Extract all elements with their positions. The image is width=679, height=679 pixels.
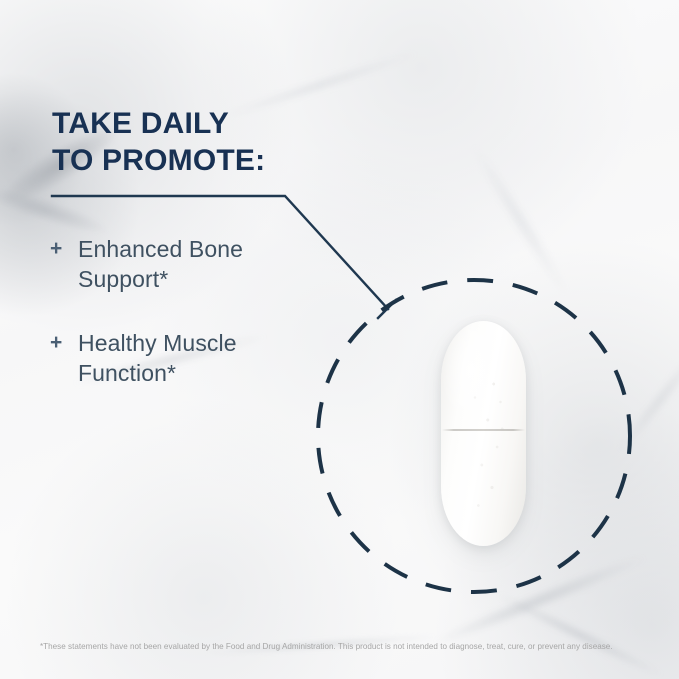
tablet-texture xyxy=(441,321,526,546)
benefit-label: Healthy MuscleFunction* xyxy=(78,328,237,388)
benefit-label-line-1: Enhanced Bone xyxy=(78,236,243,262)
headline: TAKE DAILY TO PROMOTE: xyxy=(52,105,265,179)
benefit-label: Enhanced BoneSupport* xyxy=(78,234,243,294)
tablet-score-line xyxy=(442,429,525,431)
benefit-label-line-2: Support* xyxy=(78,266,168,292)
list-item: + Enhanced BoneSupport* xyxy=(50,234,310,294)
headline-line-2: TO PROMOTE: xyxy=(52,142,265,179)
headline-line-1: TAKE DAILY xyxy=(52,105,265,142)
fda-disclaimer: *These statements have not been evaluate… xyxy=(40,641,613,653)
benefit-label-line-2: Function* xyxy=(78,360,176,386)
plus-icon: + xyxy=(50,328,78,358)
list-item: + Healthy MuscleFunction* xyxy=(50,328,310,388)
benefits-list: + Enhanced BoneSupport* + Healthy Muscle… xyxy=(50,234,310,422)
white-oval-tablet xyxy=(441,321,526,546)
plus-icon: + xyxy=(50,234,78,264)
product-benefits-graphic: TAKE DAILY TO PROMOTE: + Enhanced BoneSu… xyxy=(0,0,679,679)
benefit-label-line-1: Healthy Muscle xyxy=(78,330,237,356)
